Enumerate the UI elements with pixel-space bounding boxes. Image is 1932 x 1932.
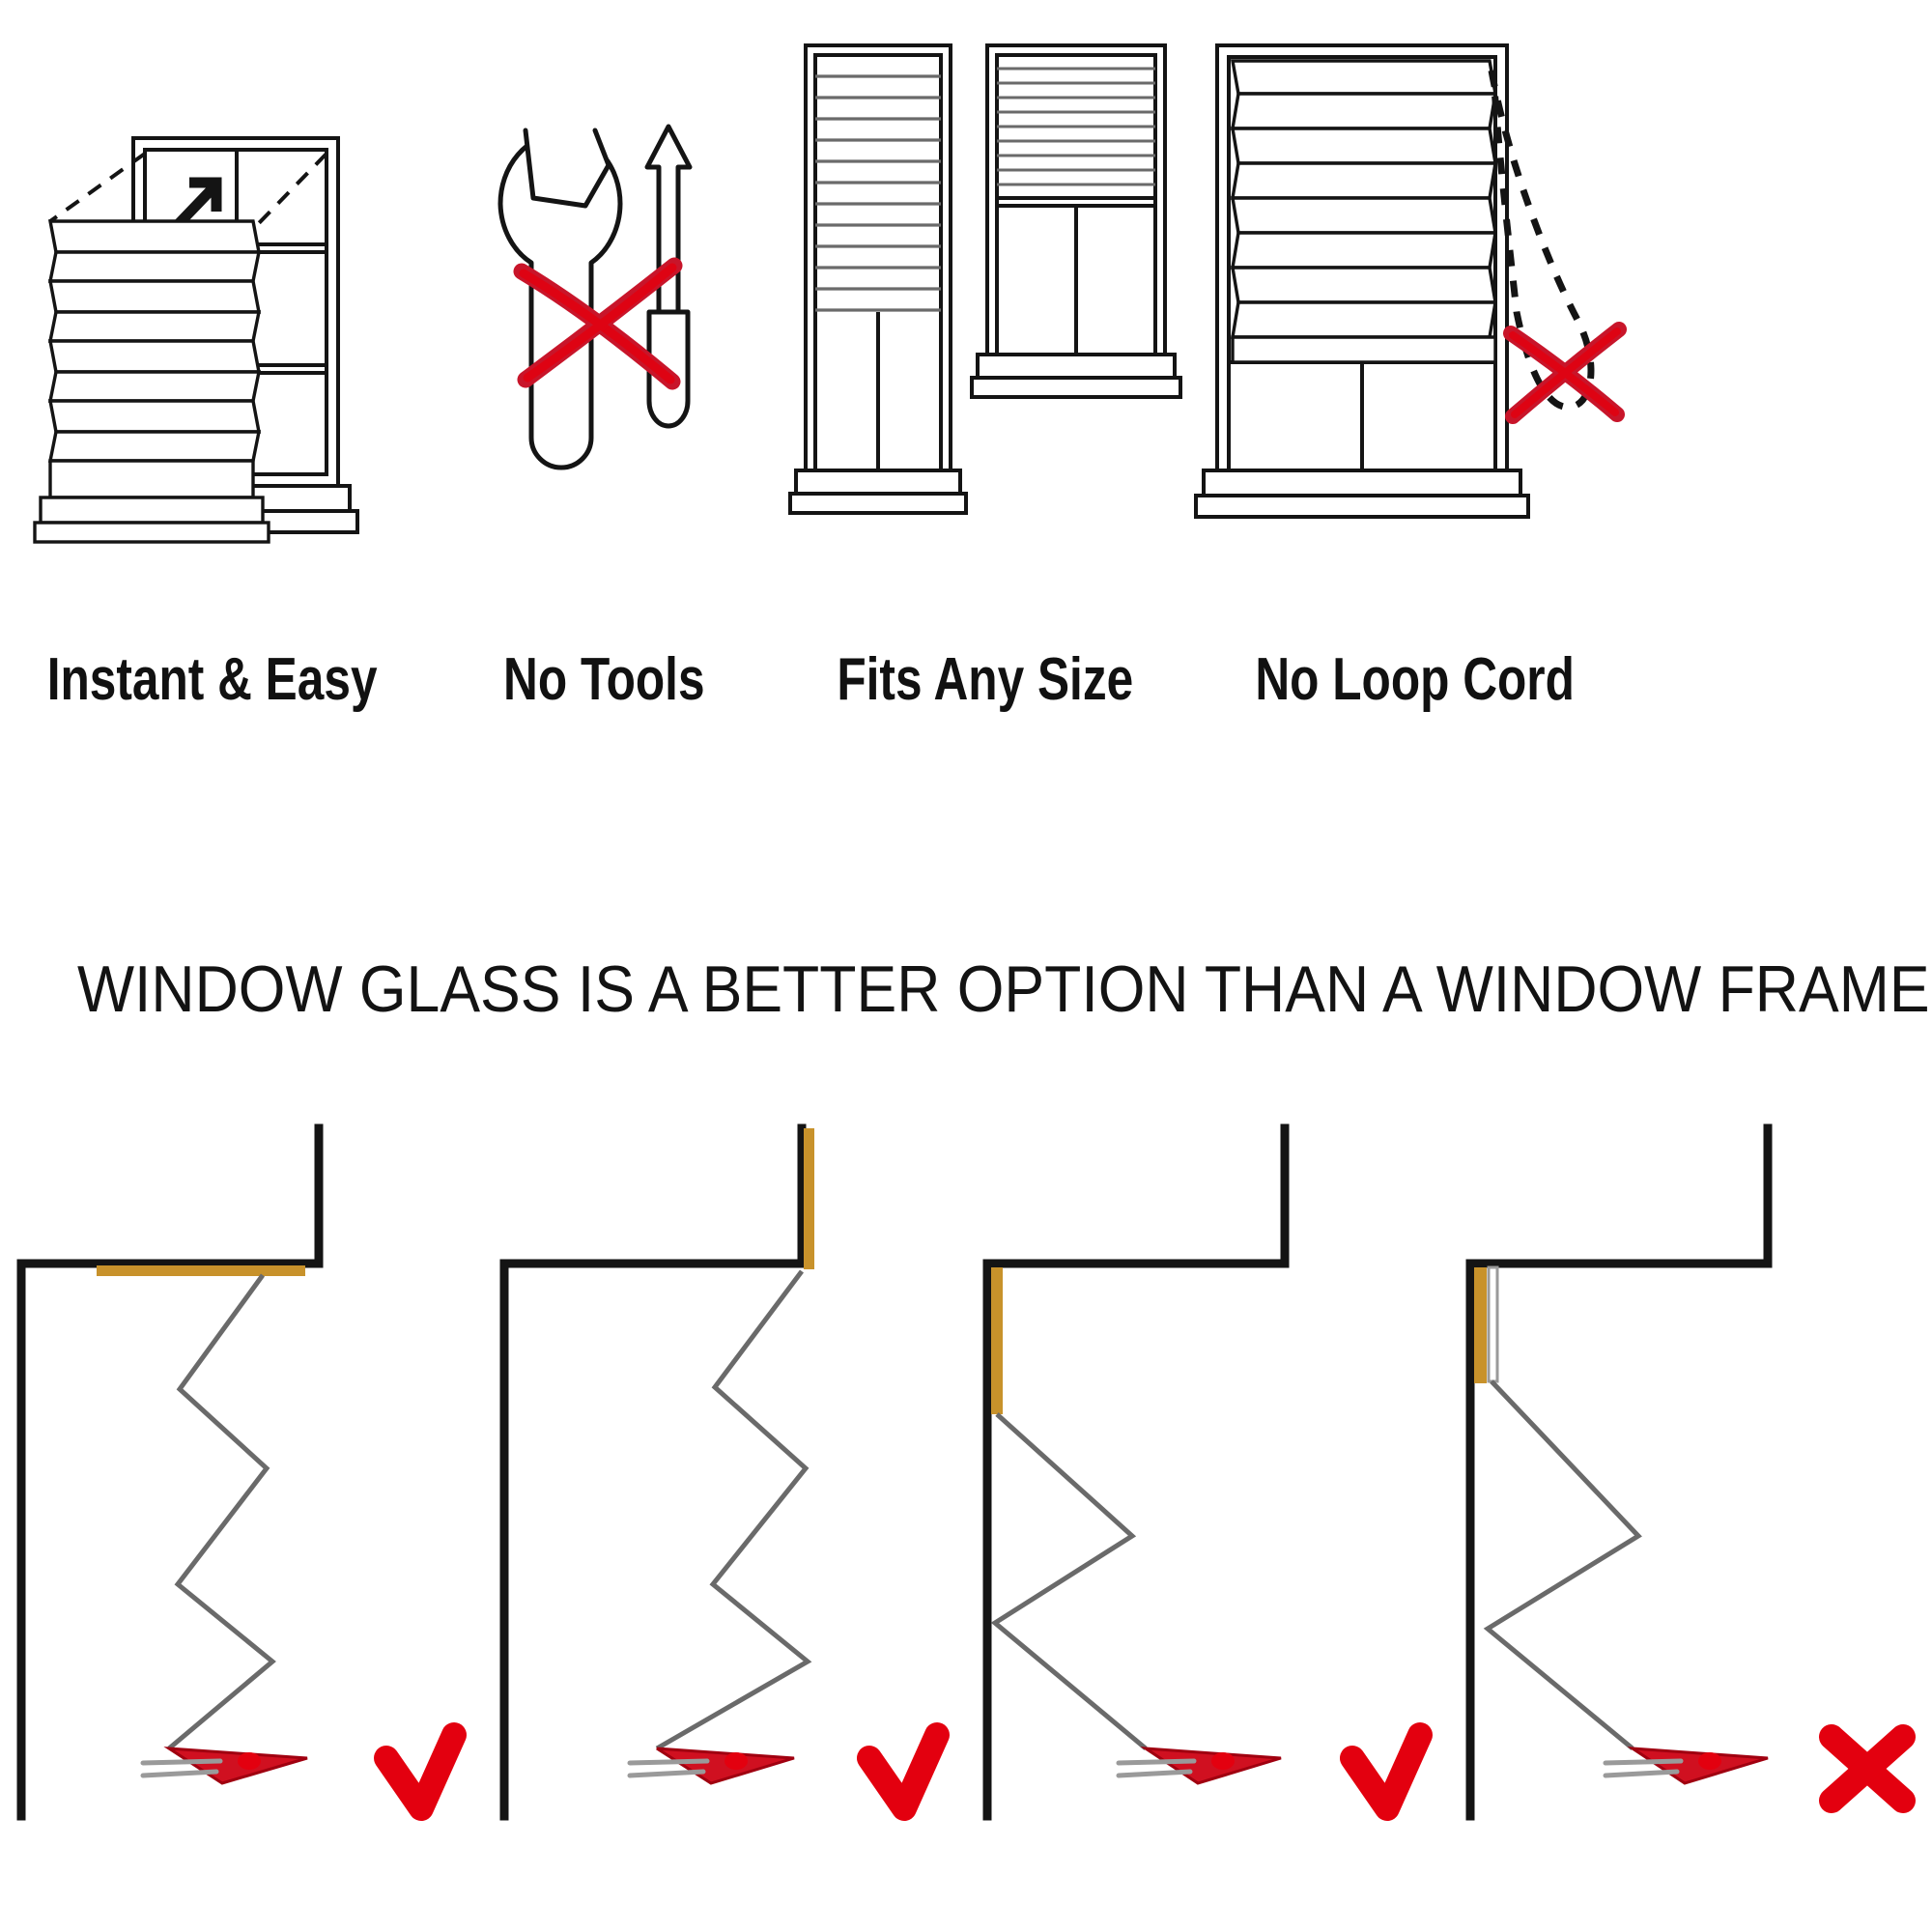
feature-no-loop-cord: No Loop Cord <box>1188 0 1642 763</box>
adhesive-strip <box>1474 1267 1487 1383</box>
adhesive-strip <box>804 1128 814 1269</box>
diagram-mount-on-left-wall-face <box>966 1082 1449 1845</box>
feature-label-no-loop-cord: No Loop Cord <box>1256 650 1576 763</box>
red-arrow-icon <box>1605 1748 1768 1783</box>
diagram-mount-on-outer-return-face <box>483 1082 966 1845</box>
blind-zigzag-profile <box>1488 1381 1638 1748</box>
section-heading: WINDOW GLASS IS A BETTER OPTION THAN A W… <box>77 952 1855 1027</box>
feature-no-tools: No Tools <box>425 0 782 763</box>
feature-row: Instant & Easy <box>0 0 1932 763</box>
red-arrow-icon <box>1119 1748 1281 1783</box>
blind-zigzag-profile <box>995 1414 1146 1748</box>
feature-instant-easy: Instant & Easy <box>0 0 425 763</box>
feature-label-fits-any-size: Fits Any Size <box>838 650 1134 763</box>
verdict-check-icon <box>869 1735 937 1808</box>
blind-zigzag-profile <box>169 1275 272 1748</box>
mounting-diagram-row <box>0 1082 1932 1845</box>
feature-label-no-tools: No Tools <box>503 650 704 763</box>
adhesive-strip <box>97 1265 305 1276</box>
verdict-cross-icon <box>1832 1737 1903 1801</box>
verdict-check-icon <box>386 1735 454 1808</box>
red-arrow-icon <box>630 1748 794 1783</box>
red-arrow-icon <box>143 1748 307 1783</box>
feature-fits-any-size: Fits Any Size <box>782 0 1188 763</box>
two-windows-different-sizes-icon <box>782 22 1188 650</box>
diagram-mount-on-narrow-frame-edge <box>1449 1082 1932 1845</box>
feature-label-instant-easy: Instant & Easy <box>47 650 378 763</box>
wide-window-slats <box>997 69 1155 185</box>
diagram-mount-on-glass-recess-top <box>0 1082 483 1845</box>
tall-narrow-window <box>790 45 966 513</box>
tall-window-slats <box>815 76 941 310</box>
blind-zigzag-profile <box>657 1271 808 1748</box>
wrench-screwdriver-crossed-out-icon <box>425 22 782 650</box>
adhesive-strip <box>991 1267 1003 1414</box>
blind-loop-cord-crossed-out-icon <box>1188 22 1642 650</box>
blind-window-arrow-icon <box>0 22 425 650</box>
verdict-check-icon <box>1352 1735 1420 1808</box>
